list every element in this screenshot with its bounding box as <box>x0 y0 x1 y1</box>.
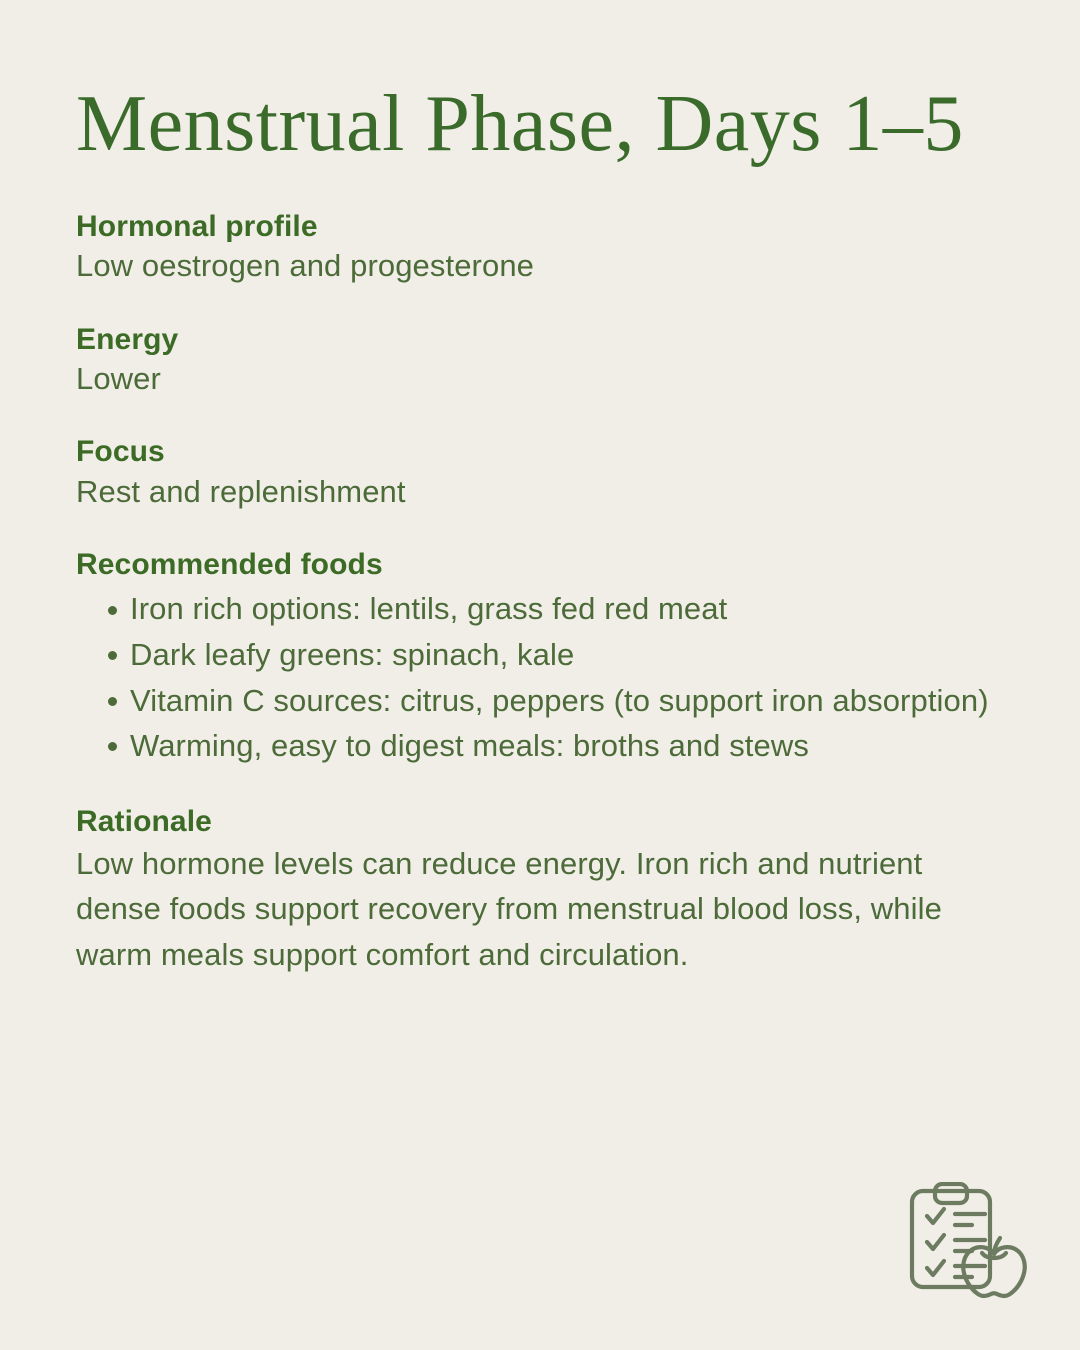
section-heading: Focus <box>76 433 1004 471</box>
section-focus: Focus Rest and replenishment <box>76 433 1004 512</box>
bullet-dot-icon <box>108 606 117 615</box>
list-item: Dark leafy greens: spinach, kale <box>76 632 1004 678</box>
list-item: Iron rich options: lentils, grass fed re… <box>76 586 1004 632</box>
list-item-label: Warming, easy to digest meals: broths an… <box>130 728 809 763</box>
section-energy: Energy Lower <box>76 321 1004 400</box>
page-title: Menstrual Phase, Days 1–5 <box>76 0 1004 164</box>
rationale-body: Low hormone levels can reduce energy. Ir… <box>76 841 996 977</box>
section-heading: Hormonal profile <box>76 208 1004 246</box>
list-item: Warming, easy to digest meals: broths an… <box>76 723 1004 769</box>
poster-page: Menstrual Phase, Days 1–5 Hormonal profi… <box>0 0 1080 1350</box>
section-hormonal-profile: Hormonal profile Low oestrogen and proge… <box>76 208 1004 287</box>
list-item-label: Iron rich options: lentils, grass fed re… <box>130 591 727 626</box>
list-item: Vitamin C sources: citrus, peppers (to s… <box>76 678 1004 724</box>
list-item-label: Dark leafy greens: spinach, kale <box>130 637 574 672</box>
clipboard-checklist-apple-icon <box>902 1182 1034 1306</box>
recommended-foods-list: Iron rich options: lentils, grass fed re… <box>76 586 1004 768</box>
section-heading: Recommended foods <box>76 546 1004 584</box>
section-body: Lower <box>76 359 1004 399</box>
section-body: Rest and replenishment <box>76 472 1004 512</box>
section-recommended-foods: Recommended foods Iron rich options: len… <box>76 546 1004 769</box>
section-heading: Energy <box>76 321 1004 359</box>
section-body: Low oestrogen and progesterone <box>76 246 1004 286</box>
bullet-dot-icon <box>108 742 117 751</box>
section-rationale: Rationale Low hormone levels can reduce … <box>76 803 1004 977</box>
bullet-dot-icon <box>108 651 117 660</box>
section-heading: Rationale <box>76 803 1004 841</box>
list-item-label: Vitamin C sources: citrus, peppers (to s… <box>130 683 989 718</box>
bullet-dot-icon <box>108 697 117 706</box>
